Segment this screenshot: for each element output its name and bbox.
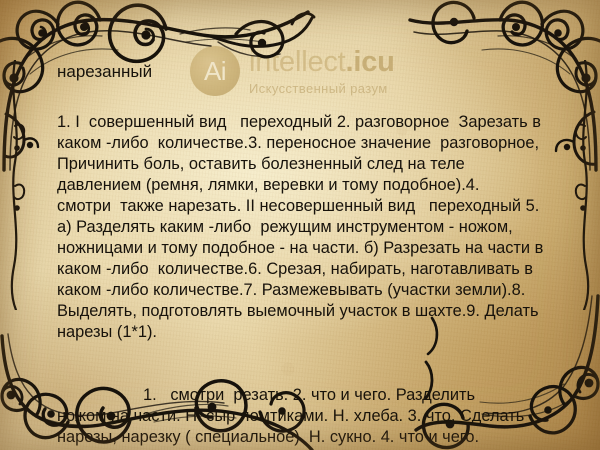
slide-canvas: Ai intellect.icu Искусственный разум нар… xyxy=(0,0,600,450)
watermark-title-light: intellect xyxy=(249,46,346,78)
page-title: нарезанный xyxy=(57,62,152,82)
watermark-title: intellect.icu xyxy=(249,48,395,77)
watermark-subtitle: Искусственный разум xyxy=(249,82,395,95)
ai-badge-icon: Ai xyxy=(190,46,240,96)
definition-body-continued: 1. смотри резать. 2. что и чего. Раздели… xyxy=(57,385,527,450)
watermark: Ai intellect.icu Искусственный разум xyxy=(190,46,395,96)
edge-ornament-right-icon xyxy=(572,60,598,310)
watermark-words: intellect.icu Искусственный разум xyxy=(249,48,395,95)
edge-ornament-left-icon xyxy=(2,60,28,310)
definition-body: 1. I совершенный вид переходный 2. разго… xyxy=(57,112,547,343)
watermark-title-bold: .icu xyxy=(346,46,395,78)
ai-badge-label: Ai xyxy=(204,58,226,84)
